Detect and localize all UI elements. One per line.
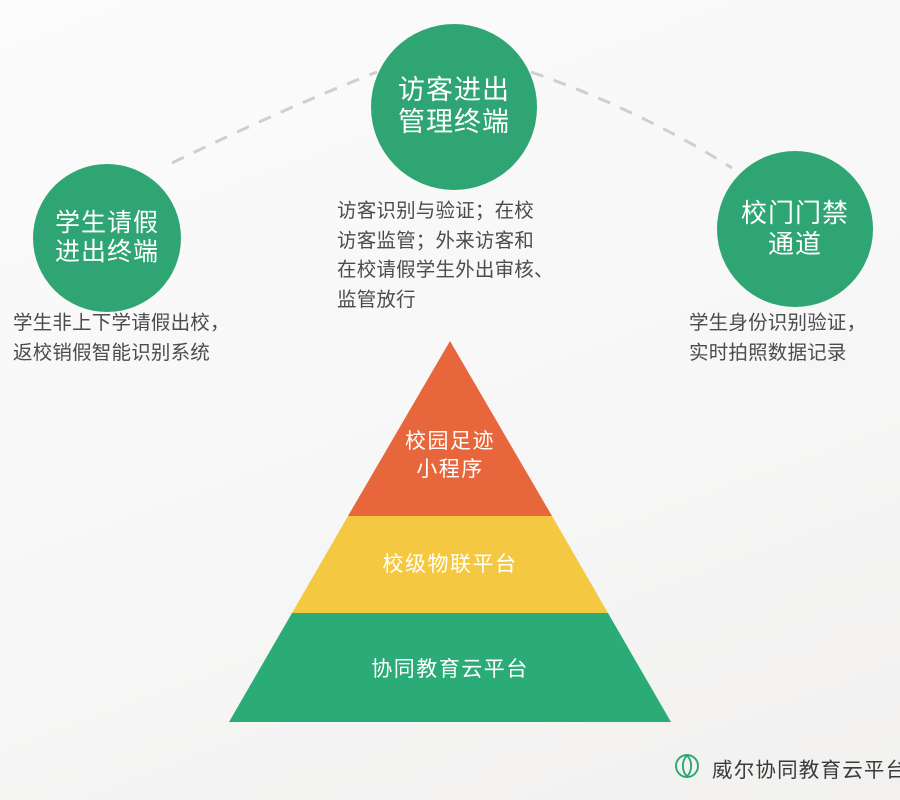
desc-line-2: 访客监管；外来访客和: [337, 227, 554, 257]
desc-line-1: 学生身份识别验证，: [689, 309, 866, 339]
pyramid-tier-2-shape: [292, 516, 608, 613]
diagram-canvas: 学生请假 进出终端 访客进出 管理终端 校门门禁 通道 学生非上下学请假出校， …: [0, 0, 900, 800]
node-title-line-2: 管理终端: [398, 107, 510, 139]
node-circle-visitor-access-terminal[interactable]: 访客进出 管理终端: [371, 24, 537, 190]
node-title-line-1: 访客进出: [398, 75, 510, 107]
desc-line-1: 学生非上下学请假出校，: [13, 309, 230, 339]
node-description-visitor-access-terminal: 访客识别与验证；在校 访客监管；外来访客和 在校请假学生外出审核、 监管放行: [337, 197, 554, 316]
brand-name: 威尔协同教育云平台: [712, 753, 900, 783]
node-title-line-2: 进出终端: [55, 238, 159, 268]
brand-logo: 威尔协同教育云平台: [672, 750, 900, 785]
node-description-student-leave-terminal: 学生非上下学请假出校， 返校销假智能识别系统: [13, 309, 230, 368]
node-circle-school-gate-access[interactable]: 校门门禁 通道: [717, 151, 873, 307]
dashed-connector-right: [531, 72, 732, 168]
node-title-line-1: 学生请假: [55, 209, 159, 239]
leaf-circle-logo-icon: [672, 750, 702, 785]
node-title-line-2: 通道: [768, 229, 822, 260]
dashed-connector-left: [172, 72, 377, 163]
pyramid-tier-3-shape: [229, 613, 671, 722]
desc-line-4: 监管放行: [337, 286, 554, 316]
desc-line-2: 返校销假智能识别系统: [13, 339, 230, 369]
desc-line-1: 访客识别与验证；在校: [337, 197, 554, 227]
desc-line-3: 在校请假学生外出审核、: [337, 256, 554, 286]
node-title-line-1: 校门门禁: [741, 198, 849, 229]
platform-pyramid: 校园足迹 小程序 校级物联平台 协同教育云平台: [228, 338, 672, 724]
node-description-school-gate-access: 学生身份识别验证， 实时拍照数据记录: [689, 309, 866, 368]
node-circle-student-leave-terminal[interactable]: 学生请假 进出终端: [33, 164, 181, 312]
pyramid-tier-1-shape: [348, 341, 552, 516]
desc-line-2: 实时拍照数据记录: [689, 339, 866, 369]
